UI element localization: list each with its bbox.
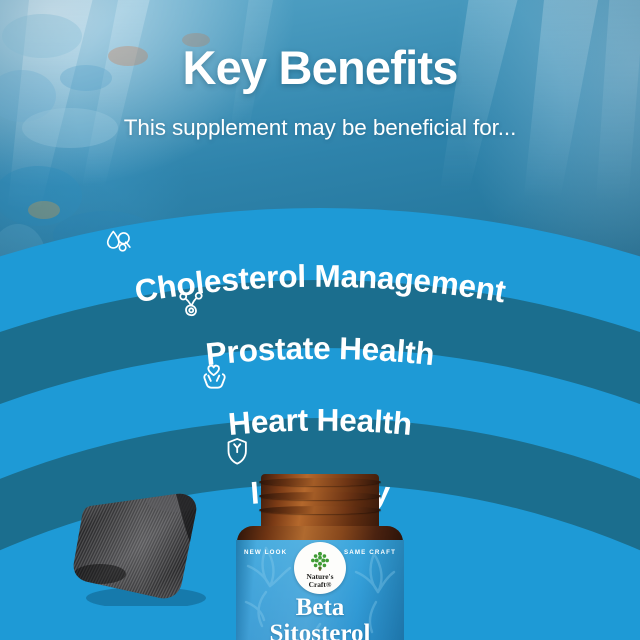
cholesterol-droplet-icon	[108, 231, 130, 250]
brand-name-line2: Craft®	[309, 581, 332, 588]
product-name-line1: Beta	[236, 595, 404, 620]
benefit-row-heart: Heart Health	[204, 366, 413, 442]
benefit-row-prostate: Prostate Health	[180, 293, 436, 372]
bottle-thread	[259, 478, 381, 486]
brand-logo-badge: Nature's Craft®	[294, 542, 346, 594]
benefit-row-cholesterol: Cholesterol Management	[108, 231, 509, 309]
bottle-thread	[259, 506, 381, 514]
amber-supplement-bottle: NEW LOOK SAME CRAFT	[228, 474, 412, 640]
shield-antibody-icon	[229, 439, 246, 464]
brand-name-line1: Nature's	[307, 573, 334, 580]
bottle-thread	[259, 492, 381, 500]
new-look-text: NEW LOOK	[244, 549, 287, 556]
brand-foliage-icon	[309, 550, 331, 572]
infographic-canvas: Key Benefits This supplement may be bene…	[0, 0, 640, 640]
benefit-label-prostate: Prostate Health	[204, 330, 436, 372]
product-name-line2: Sitosterol	[236, 621, 404, 640]
benefit-label-heart: Heart Health	[227, 402, 414, 442]
black-ribbed-bottle-cap	[72, 486, 212, 606]
bottle-label: NEW LOOK SAME CRAFT	[236, 540, 404, 640]
same-craft-text: SAME CRAFT	[344, 549, 396, 556]
